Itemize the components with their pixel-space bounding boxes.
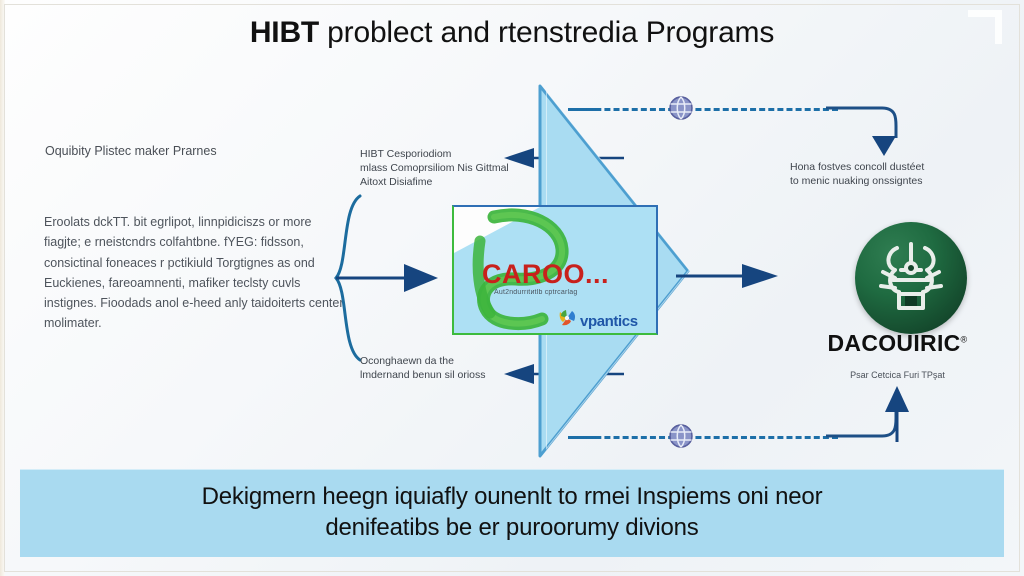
converging-brace-connector xyxy=(330,190,450,370)
card-subtitle: Aut2ndurritиtlb срtrcаrlag xyxy=(494,289,654,296)
top-connector-elbow-arrow xyxy=(826,104,906,160)
card-brand-text: vpantics xyxy=(580,313,638,330)
caption-line-1: Dekigmern heegn iquiafly ounenlt to rmei… xyxy=(72,482,952,513)
pinwheel-logo-icon xyxy=(558,309,577,333)
caption-banner: Dekigmern heegn iquiafly ounenlt to rmei… xyxy=(20,469,1004,557)
globe-network-icon xyxy=(668,423,694,449)
page-left-edge xyxy=(0,0,5,576)
mid-label-bottom: Oconghaewn da the lmdernand benun sil or… xyxy=(360,355,525,383)
top-dashed-connector xyxy=(568,108,838,111)
registered-mark-icon: ® xyxy=(961,334,968,344)
globe-network-icon xyxy=(668,95,694,121)
center-product-card[interactable]: CAROO... Aut2ndurritиtlb срtrcаrlag vpan… xyxy=(452,205,658,335)
ornamental-crest-icon xyxy=(871,236,951,318)
card-title: CAROO... xyxy=(482,259,658,290)
arrow-up-to-badge xyxy=(884,386,910,442)
badge-name: DACOUIRIC® xyxy=(790,330,1005,357)
left-panel-heading: Oquibity Plistec maker Prarnes xyxy=(45,143,335,160)
left-panel-body: Eroolats dсkTT. bit egrlipot, linnpidici… xyxy=(44,212,344,334)
arrow-triangle-to-badge xyxy=(676,262,788,290)
bottom-dashed-connector xyxy=(568,436,838,439)
card-brand: vpantics xyxy=(558,309,638,333)
diagram-canvas: HIBT problect and rtenstredia Programs O… xyxy=(0,0,1024,576)
page-title: HIBT problect and rtenstredia Programs xyxy=(0,16,1024,50)
mid-label-top: HIBT Cesporiodiom mlass Comoprsiliom Nis… xyxy=(360,148,520,190)
caption-text: Dekigmern heegn iquiafly ounenlt to rmei… xyxy=(72,482,952,543)
badge-subtitle: Psar Cetcica Furi TPşаt xyxy=(790,370,1005,380)
dacouiric-badge[interactable] xyxy=(855,222,967,334)
caption-line-2: denifeatibs be er puroorumy divions xyxy=(72,513,952,544)
badge-name-text: DACOUIRIC xyxy=(828,330,961,356)
page-title-rest: problect and rtenstredia Programs xyxy=(319,16,774,49)
page-title-strong: HIBT xyxy=(250,16,319,49)
right-label-top: Hona fostves concoll dustéet to menic nu… xyxy=(790,160,990,188)
